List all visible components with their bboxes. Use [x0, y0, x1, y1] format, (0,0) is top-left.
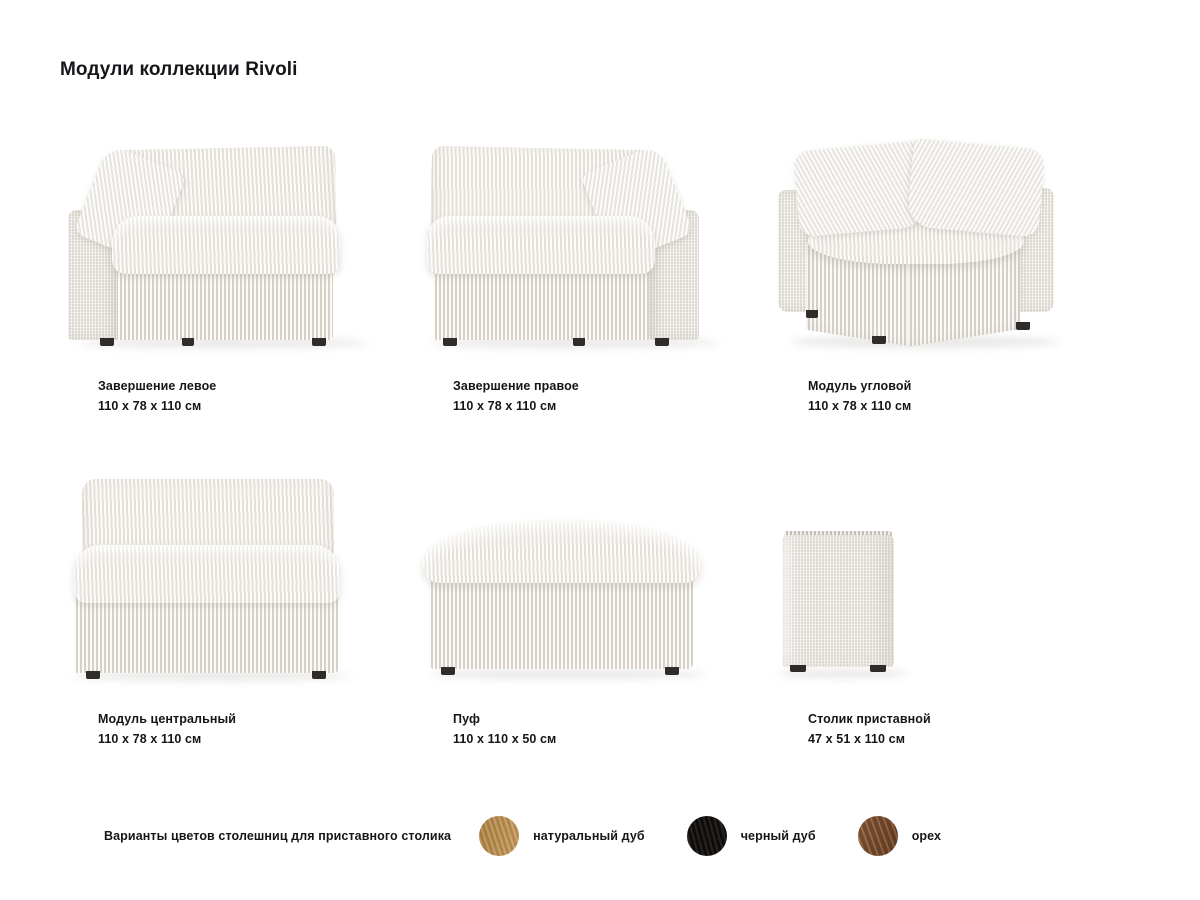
swatch-natural-oak[interactable]: натуральный дуб: [479, 816, 645, 856]
swatch-label-walnut: орех: [912, 829, 941, 843]
ottoman-illustration: [415, 473, 745, 688]
corner-module-illustration: [770, 140, 1100, 355]
module-card-corner[interactable]: Модуль угловой 110 x 78 x 110 см: [770, 140, 1125, 473]
module-card-center[interactable]: Модуль центральный 110 x 78 x 110 см: [60, 473, 415, 806]
module-card-right-end[interactable]: Завершение правое 110 x 78 x 110 см: [415, 140, 770, 473]
module-grid: Завершение левое 110 x 78 x 110 см Завер…: [60, 140, 1150, 806]
module-caption: Модуль угловой 110 x 78 x 110 см: [808, 378, 1108, 415]
module-name: Столик приставной: [808, 711, 1108, 728]
module-caption: Столик приставной 47 x 51 x 110 см: [808, 711, 1108, 748]
page-title: Модули коллекции Rivoli: [60, 59, 298, 81]
module-card-side-table[interactable]: Столик приставной 47 x 51 x 110 см: [770, 473, 1125, 806]
swatch-label-black-oak: черный дуб: [741, 829, 816, 843]
module-caption: Пуф 110 x 110 x 50 см: [453, 711, 753, 748]
right-end-module-illustration: [415, 140, 745, 355]
swatch-color-natural-oak[interactable]: [479, 816, 519, 856]
center-module-illustration: [60, 473, 390, 688]
module-dimensions: 110 x 110 x 50 см: [453, 731, 753, 748]
module-name: Завершение левое: [98, 378, 398, 395]
module-caption: Модуль центральный 110 x 78 x 110 см: [98, 711, 398, 748]
swatch-label-natural-oak: натуральный дуб: [533, 829, 645, 843]
left-end-module-illustration: [60, 140, 390, 355]
module-caption: Завершение левое 110 x 78 x 110 см: [98, 378, 398, 415]
swatch-color-walnut[interactable]: [858, 816, 898, 856]
module-card-ottoman[interactable]: Пуф 110 x 110 x 50 см: [415, 473, 770, 806]
swatch-color-black-oak[interactable]: [687, 816, 727, 856]
module-dimensions: 110 x 78 x 110 см: [98, 398, 398, 415]
module-dimensions: 110 x 78 x 110 см: [453, 398, 753, 415]
swatch-walnut[interactable]: орех: [858, 816, 941, 856]
module-name: Завершение правое: [453, 378, 753, 395]
module-caption: Завершение правое 110 x 78 x 110 см: [453, 378, 753, 415]
module-dimensions: 110 x 78 x 110 см: [808, 398, 1108, 415]
module-name: Модуль центральный: [98, 711, 398, 728]
side-table-illustration: [770, 473, 1100, 688]
module-dimensions: 47 x 51 x 110 см: [808, 731, 1108, 748]
swatch-black-oak[interactable]: черный дуб: [687, 816, 816, 856]
module-dimensions: 110 x 78 x 110 см: [98, 731, 398, 748]
countertop-color-legend: Варианты цветов столешниц для приставног…: [60, 816, 1140, 856]
module-name: Модуль угловой: [808, 378, 1108, 395]
module-card-left-end[interactable]: Завершение левое 110 x 78 x 110 см: [60, 140, 415, 473]
module-name: Пуф: [453, 711, 753, 728]
legend-label: Варианты цветов столешниц для приставног…: [104, 829, 451, 843]
